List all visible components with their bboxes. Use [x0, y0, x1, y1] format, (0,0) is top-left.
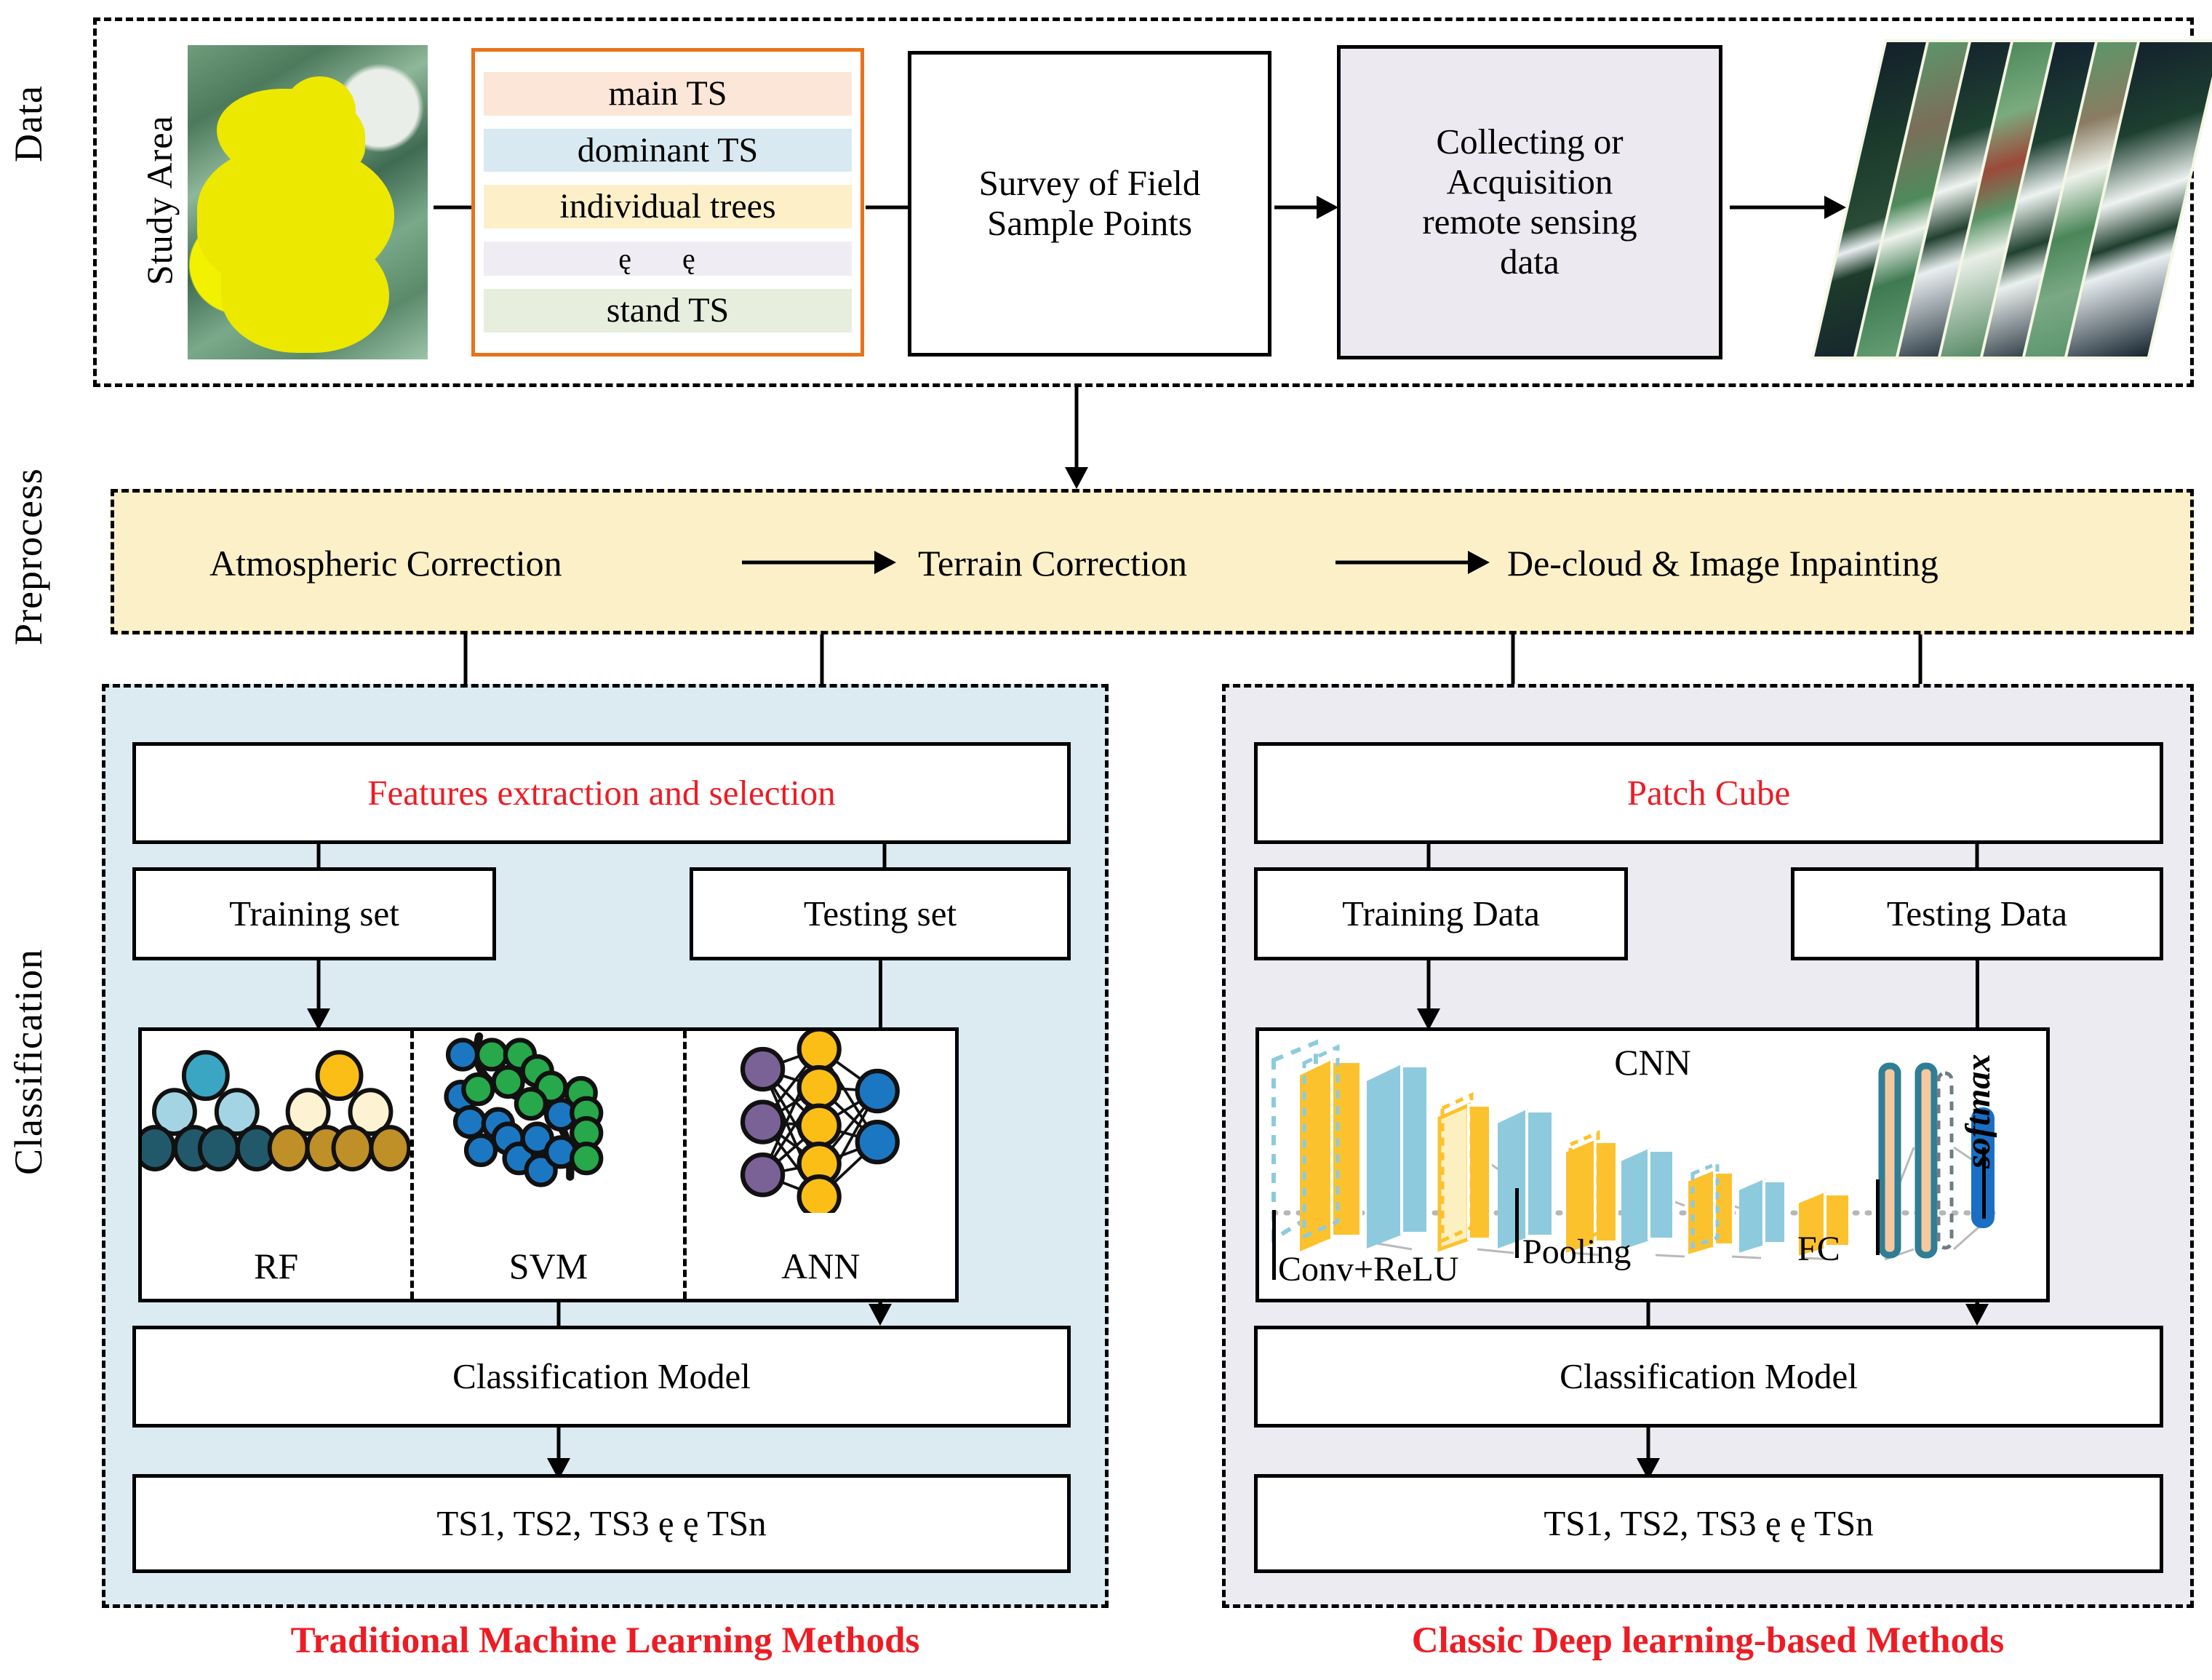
- algorithm-label-ann: ANN: [687, 1245, 955, 1287]
- deep-learning-caption: Classic Deep learning-based Methods: [1222, 1620, 2194, 1662]
- testing-data-box: Testing Data: [1791, 867, 2163, 960]
- tick-conv: [1272, 1210, 1276, 1280]
- output-ts-box-right: TS1, TS2, TS3 ę ę TSn: [1254, 1474, 2163, 1573]
- preprocess-step-decloud: De-cloud & Image Inpainting: [1507, 542, 1939, 584]
- decision-trees-icon: [142, 1031, 410, 1213]
- tick-pooling: [1515, 1188, 1519, 1258]
- algorithm-label-rf: RF: [142, 1245, 410, 1287]
- traditional-ml-caption: Traditional Machine Learning Methods: [102, 1620, 1109, 1662]
- algorithm-cell-ann: ANN: [683, 1031, 955, 1299]
- cnn-label-softmax: softmax: [1958, 1054, 1998, 1169]
- study-area-map: [188, 45, 428, 359]
- classification-model-box-right: Classification Model: [1254, 1326, 2163, 1428]
- arrow-terrain-to-decloud: [1335, 550, 1490, 575]
- training-data-box: Training Data: [1254, 867, 1628, 960]
- row-label-preprocess: Preprocess: [6, 444, 54, 669]
- arrow-atmospheric-to-terrain: [742, 550, 896, 575]
- classification-model-box-left: Classification Model: [132, 1326, 1071, 1428]
- remote-sensing-image-stack: [1848, 39, 2189, 359]
- features-extraction-box: Features extraction and selection: [132, 742, 1071, 844]
- neural-network-icon: [687, 1031, 955, 1213]
- algorithm-cell-rf: RF: [142, 1031, 410, 1299]
- row-label-classification: Classification: [6, 909, 54, 1215]
- survey-field-sample-box: Survey of Field Sample Points: [908, 51, 1271, 357]
- ts-row-dominant: dominant TS: [484, 129, 852, 172]
- arrow-model-to-output-right: [1634, 1428, 1663, 1480]
- row-label-data: Data: [6, 51, 54, 196]
- tick-fc: [1876, 1179, 1880, 1255]
- algorithm-label-svm: SVM: [414, 1245, 682, 1287]
- study-area-label: Study Area: [138, 80, 183, 320]
- arrow-model-to-output-left: [544, 1428, 573, 1480]
- ts-row-main: main TS: [484, 72, 852, 116]
- ts-category-legend: main TS dominant TS individual trees ę ę…: [471, 48, 864, 357]
- arrow-training-to-cnn: [1414, 960, 1443, 1030]
- ts-row-stand: stand TS: [484, 289, 852, 333]
- training-set-box: Training set: [132, 867, 496, 960]
- patch-cube-box: Patch Cube: [1254, 742, 2163, 844]
- cnn-label-fc: FC: [1797, 1229, 1840, 1269]
- acquisition-remote-sensing-box: Collecting or Acquisition remote sensing…: [1337, 45, 1722, 359]
- arrow-acquisition-to-imagery: [1730, 195, 1846, 220]
- testing-set-box: Testing set: [690, 867, 1071, 960]
- cnn-label-pooling: Pooling: [1522, 1232, 1631, 1272]
- arrow-survey-to-acquisition: [1274, 195, 1338, 220]
- preprocess-step-terrain: Terrain Correction: [918, 542, 1187, 584]
- scatter-boundary-icon: [414, 1031, 682, 1213]
- preprocess-step-atmospheric: Atmospheric Correction: [209, 542, 562, 584]
- algorithm-cell-svm: SVM: [410, 1031, 682, 1299]
- arrow-data-to-preprocess: [1062, 387, 1091, 489]
- ts-row-ellipsis: ę ę: [484, 242, 852, 276]
- flowchart-canvas: Data Preprocess Classification Study Are…: [0, 0, 2212, 1680]
- output-ts-box-left: TS1, TS2, TS3 ę ę TSn: [132, 1474, 1071, 1573]
- cnn-label-conv-relu: Conv+ReLU: [1278, 1249, 1458, 1289]
- arrow-training-to-algorithms: [304, 960, 333, 1030]
- ts-row-individual-trees: individual trees: [484, 185, 852, 228]
- cnn-architecture-panel: CNN: [1255, 1027, 2050, 1302]
- ml-algorithms-panel: RF: [138, 1027, 959, 1302]
